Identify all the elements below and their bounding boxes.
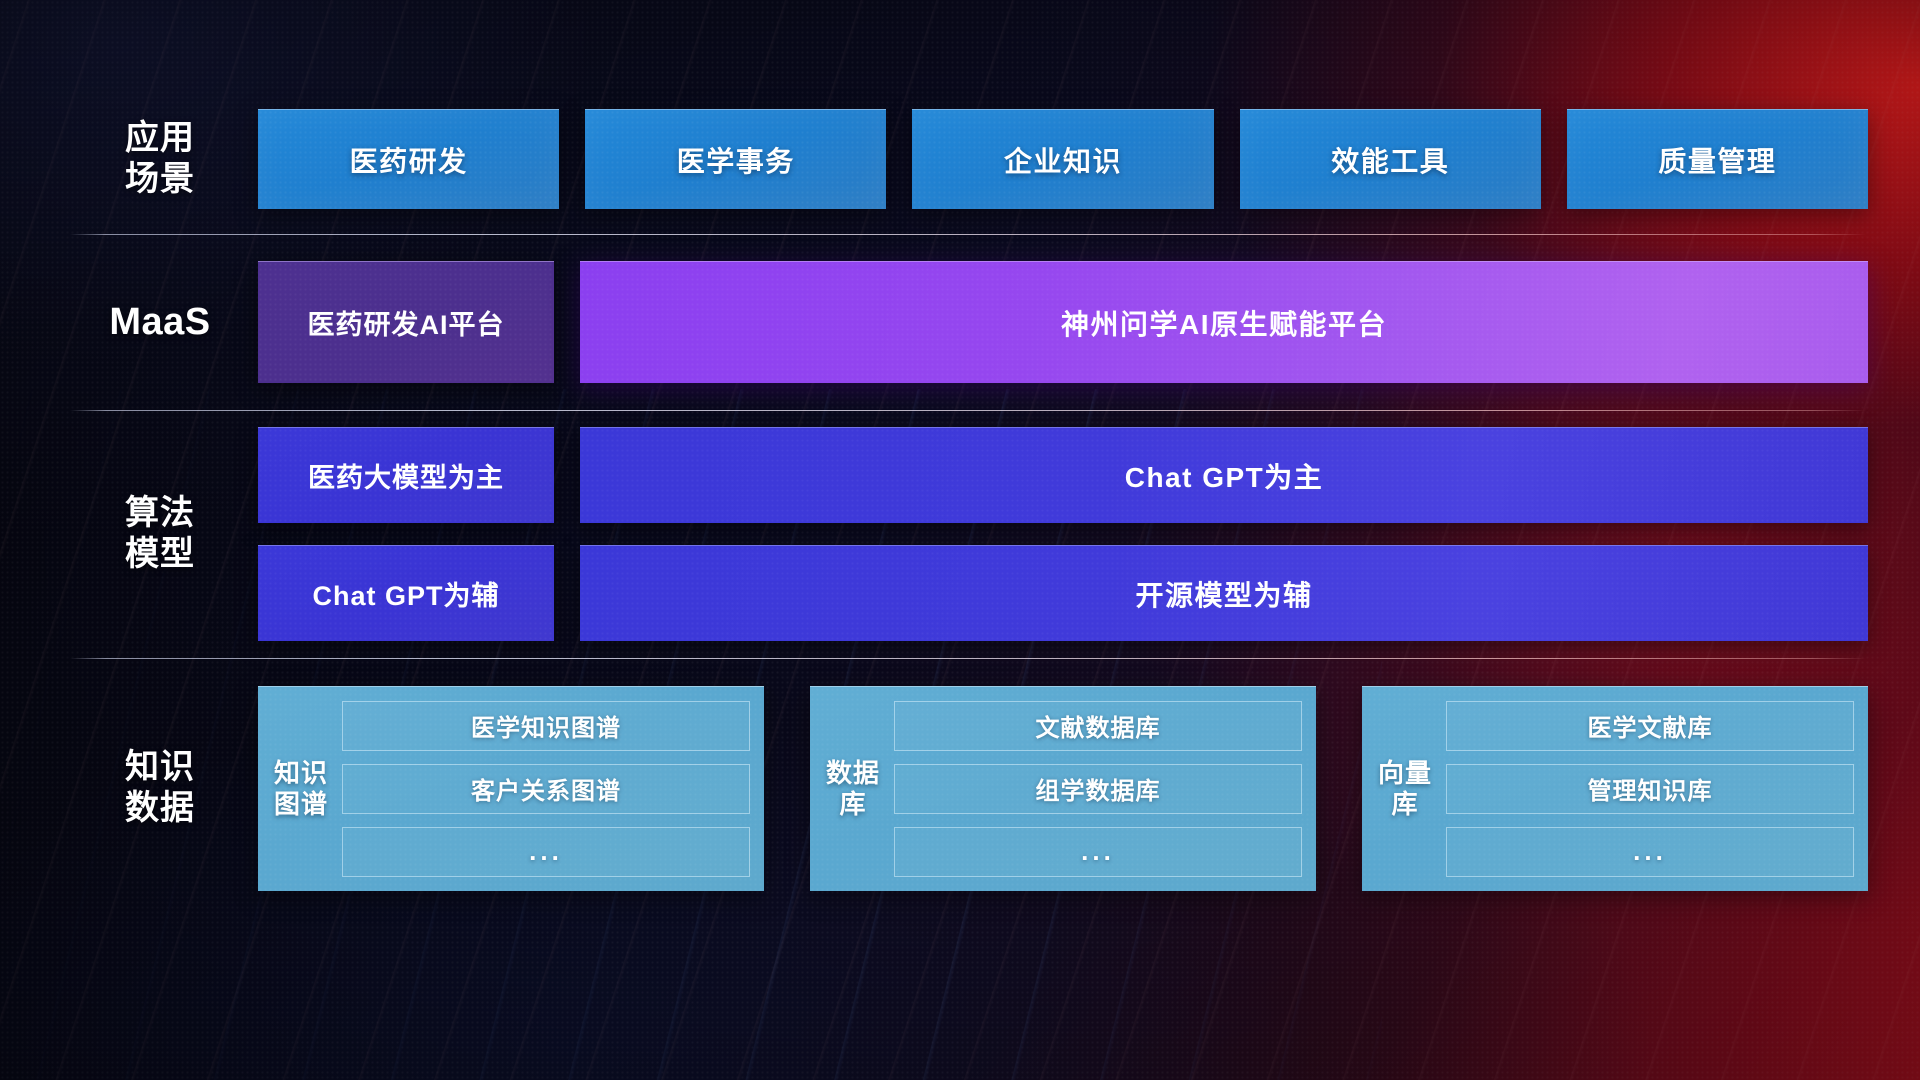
algorithm-row-primary: 医药大模型为主 Chat GPT为主 [258, 427, 1868, 523]
application-card-list: 医药研发 医学事务 企业知识 效能工具 质量管理 [258, 109, 1868, 209]
row-label-algorithm-line2: 模型 [70, 534, 250, 575]
knowledge-item-list-vector-store: 医学文献库 管理知识库 ... [1446, 701, 1854, 877]
knowledge-group-title-database: 数据库 [826, 701, 880, 877]
knowledge-item-list-database: 文献数据库 组学数据库 ... [894, 701, 1302, 877]
row-label-knowledge: 知识 数据 [70, 747, 258, 830]
app-card-enterprise-knowledge[interactable]: 企业知识 [912, 109, 1213, 209]
knowledge-item-customer-relation-graph[interactable]: 客户关系图谱 [342, 764, 750, 814]
knowledge-group-knowledge-graph: 知识图谱 医学知识图谱 客户关系图谱 ... [258, 686, 764, 891]
knowledge-group-vector-store: 向量库 医学文献库 管理知识库 ... [1362, 686, 1868, 891]
row-knowledge-data: 知识 数据 知识图谱 医学知识图谱 客户关系图谱 ... 数据库 文献数据库 [70, 658, 1868, 918]
row-algorithm-models: 算法 模型 医药大模型为主 Chat GPT为主 Chat GPT为辅 开源模型… [70, 410, 1868, 658]
algorithm-row-secondary: Chat GPT为辅 开源模型为辅 [258, 545, 1868, 641]
knowledge-item-literature-database[interactable]: 文献数据库 [894, 701, 1302, 751]
row-label-algorithm-line1: 算法 [70, 493, 250, 534]
knowledge-group-database: 数据库 文献数据库 组学数据库 ... [810, 686, 1316, 891]
row-label-knowledge-line2: 数据 [70, 788, 250, 829]
knowledge-item-more-vector-store[interactable]: ... [1446, 827, 1854, 877]
algo-card-opensource-secondary[interactable]: 开源模型为辅 [580, 545, 1868, 641]
divider-above-algorithm [70, 410, 1866, 411]
row-label-application-line2: 场景 [70, 159, 250, 200]
row-label-maas: MaaS [70, 299, 258, 345]
algo-card-chatgpt-primary[interactable]: Chat GPT为主 [580, 427, 1868, 523]
row-content-application: 医药研发 医学事务 企业知识 效能工具 质量管理 [258, 109, 1868, 209]
knowledge-item-more-knowledge-graph[interactable]: ... [342, 827, 750, 877]
algo-card-chatgpt-secondary[interactable]: Chat GPT为辅 [258, 545, 554, 641]
knowledge-item-management-knowledge-store[interactable]: 管理知识库 [1446, 764, 1854, 814]
row-label-application: 应用 场景 [70, 118, 258, 201]
divider-above-maas [70, 234, 1866, 235]
row-maas: MaaS 医药研发AI平台 神州问学AI原生赋能平台 [70, 234, 1868, 410]
knowledge-item-medical-knowledge-graph[interactable]: 医学知识图谱 [342, 701, 750, 751]
row-content-algorithm: 医药大模型为主 Chat GPT为主 Chat GPT为辅 开源模型为辅 [258, 427, 1868, 641]
algo-card-pharma-llm-primary[interactable]: 医药大模型为主 [258, 427, 554, 523]
row-label-knowledge-line1: 知识 [70, 747, 250, 788]
maas-card-drug-rd-ai-platform[interactable]: 医药研发AI平台 [258, 261, 554, 383]
knowledge-group-list: 知识图谱 医学知识图谱 客户关系图谱 ... 数据库 文献数据库 组学数据库 .… [258, 686, 1868, 891]
architecture-diagram: 应用 场景 医药研发 医学事务 企业知识 效能工具 质量管理 MaaS 医药研发… [0, 0, 1920, 1080]
knowledge-item-omics-database[interactable]: 组学数据库 [894, 764, 1302, 814]
maas-card-list: 医药研发AI平台 神州问学AI原生赋能平台 [258, 261, 1868, 383]
knowledge-item-list-knowledge-graph: 医学知识图谱 客户关系图谱 ... [342, 701, 750, 877]
knowledge-group-title-vector-store: 向量库 [1378, 701, 1432, 877]
knowledge-item-more-database[interactable]: ... [894, 827, 1302, 877]
row-content-maas: 医药研发AI平台 神州问学AI原生赋能平台 [258, 261, 1868, 383]
app-card-efficiency-tools[interactable]: 效能工具 [1240, 109, 1541, 209]
row-label-application-line1: 应用 [70, 118, 250, 159]
row-label-algorithm: 算法 模型 [70, 493, 258, 576]
algorithm-card-grid: 医药大模型为主 Chat GPT为主 Chat GPT为辅 开源模型为辅 [258, 427, 1868, 641]
knowledge-item-medical-literature-store[interactable]: 医学文献库 [1446, 701, 1854, 751]
divider-above-knowledge [70, 658, 1866, 659]
maas-card-shenzhou-wenxue-platform[interactable]: 神州问学AI原生赋能平台 [580, 261, 1868, 383]
app-card-medical-affairs[interactable]: 医学事务 [585, 109, 886, 209]
row-application-scenarios: 应用 场景 医药研发 医学事务 企业知识 效能工具 质量管理 [70, 84, 1868, 234]
row-content-knowledge: 知识图谱 医学知识图谱 客户关系图谱 ... 数据库 文献数据库 组学数据库 .… [258, 686, 1868, 891]
app-card-drug-rd[interactable]: 医药研发 [258, 109, 559, 209]
app-card-quality-management[interactable]: 质量管理 [1567, 109, 1868, 209]
knowledge-group-title-knowledge-graph: 知识图谱 [274, 701, 328, 877]
